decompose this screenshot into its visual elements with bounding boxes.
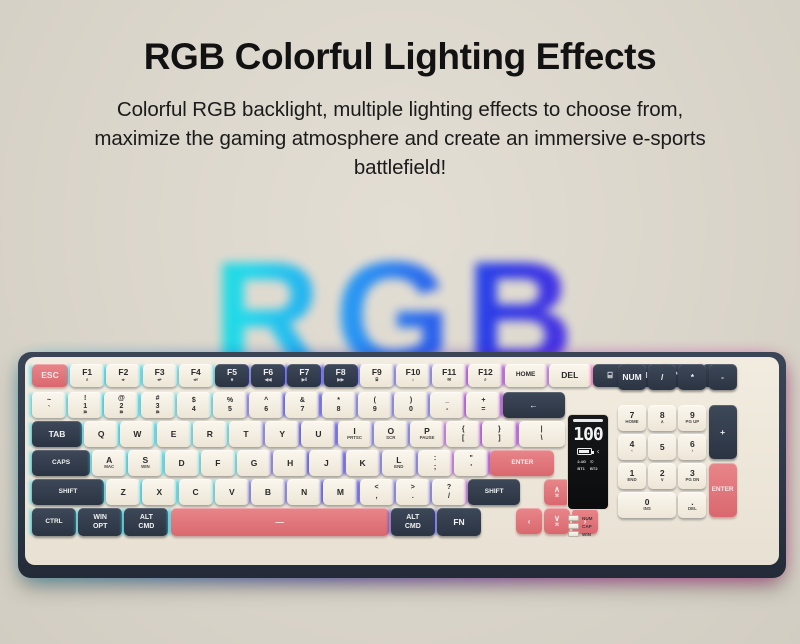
key-sublegend: 2	[119, 403, 123, 410]
keycap-layer: ESCF1⌕F2◂-F3◂+F4◂×F5■F6◀◀F7▶‖F8▶▶F9⌸F10⌂…	[18, 352, 786, 578]
key-p[interactable]: PPAUSE	[410, 421, 444, 447]
key-numpad-[interactable]: +	[709, 405, 737, 459]
key-legend: ~	[47, 397, 51, 404]
key-f6[interactable]: F6◀◀	[251, 364, 285, 387]
key-legend: SHIFT	[59, 489, 78, 496]
key-legend: 9	[690, 411, 695, 420]
key-j[interactable]: J	[309, 450, 343, 476]
key-legend: +	[720, 428, 725, 437]
key-[interactable]: @2⛿	[104, 392, 138, 418]
key-legend: /	[661, 373, 663, 382]
key-w[interactable]: W	[120, 421, 154, 447]
key-sublegend: ⛿	[120, 411, 123, 416]
key-legend: I	[353, 427, 355, 436]
key-sublegend: ⌕	[484, 378, 486, 383]
key-legend: >	[411, 484, 415, 491]
key-numpad-2[interactable]: 2∨	[648, 463, 676, 489]
led-label-num: NUM	[582, 516, 592, 521]
key-legend: :	[434, 455, 436, 462]
key-legend: X	[157, 488, 163, 497]
key-sublegend: ◂+	[157, 378, 162, 383]
led-label-win: WIN	[582, 532, 591, 537]
key-numpad-[interactable]: *	[678, 364, 706, 390]
key-legend: V	[229, 488, 235, 497]
key-v[interactable]: V	[215, 479, 249, 505]
key-sublegend: WIN	[141, 465, 150, 470]
key-[interactable]: &7	[285, 392, 319, 418]
key-y[interactable]: Y	[265, 421, 299, 447]
key-f12[interactable]: F12⌕	[468, 364, 502, 387]
key-alt[interactable]: ALTCMD	[124, 508, 168, 536]
key-legend: _	[445, 397, 449, 404]
key-o[interactable]: OSCR	[374, 421, 408, 447]
key-[interactable]: $4	[177, 392, 211, 418]
key-k[interactable]: K	[346, 450, 380, 476]
key-sublegend: ∨	[661, 478, 664, 483]
keyboard-product-image: ESCF1⌕F2◂-F3◂+F4◂×F5■F6◀◀F7▶‖F8▶▶F9⌸F10⌂…	[18, 352, 786, 592]
key-f7[interactable]: F7▶‖	[287, 364, 321, 387]
key-[interactable]: +=	[466, 392, 500, 418]
caps-lock-led-icon	[568, 523, 579, 529]
key-legend: TAB	[49, 430, 66, 439]
key-sublegend: 5	[228, 406, 232, 413]
key-a[interactable]: AMAC	[92, 450, 126, 476]
key-sublegend: ▶‖	[302, 378, 308, 383]
key-[interactable]: )0	[394, 392, 428, 418]
key-sublegend: ✉	[447, 378, 451, 383]
key-sublegend: HOME	[625, 420, 638, 425]
key-b[interactable]: B	[251, 479, 285, 505]
key-sublegend: END	[394, 465, 403, 470]
key-legend: -	[721, 373, 724, 382]
key-[interactable]: ?/	[432, 479, 466, 505]
key-sublegend: 9	[373, 406, 377, 413]
key-legend: F	[215, 459, 220, 468]
key-legend: )	[410, 397, 412, 404]
key-z[interactable]: Z	[106, 479, 140, 505]
key-sublegend: ⌘	[555, 523, 559, 528]
key-numpad-9[interactable]: 9PG UP	[678, 405, 706, 431]
key-sublegend: ⛿	[84, 411, 87, 416]
key-legend: %	[227, 397, 233, 404]
key-x[interactable]: X	[142, 479, 176, 505]
key-legend: 6	[690, 440, 695, 449]
key-numpad-1[interactable]: 1END	[618, 463, 646, 489]
key-legend: F5	[227, 368, 237, 377]
key-f8[interactable]: F8▶▶	[324, 364, 358, 387]
key-[interactable]: ~`	[32, 392, 66, 418]
key-f2[interactable]: F2◂-	[106, 364, 140, 387]
key-numpad-[interactable]: .DEL	[678, 492, 706, 518]
display-mode-labels: 2.4G ☉ BT1 BT2	[577, 459, 598, 471]
key-numpad-num[interactable]: NUM	[618, 364, 646, 390]
key-legend: B	[265, 488, 271, 497]
key-legend: ENTER	[511, 460, 533, 467]
key-sublegend: ;	[434, 464, 436, 471]
key-legend: E	[171, 430, 177, 439]
key-numpad-0[interactable]: 0INS	[618, 492, 676, 518]
key-legend: K	[360, 459, 366, 468]
key-sublegend: 7	[300, 406, 304, 413]
key-f3[interactable]: F3◂+	[143, 364, 177, 387]
key-legend: F3	[155, 368, 165, 377]
key-numpad-[interactable]: /	[648, 364, 676, 390]
key-legend: ENTER	[712, 487, 734, 494]
key-legend: F7	[299, 368, 309, 377]
key-legend: W	[133, 430, 141, 439]
key-sublegend: ◂-	[122, 378, 126, 383]
key-legend: F11	[442, 368, 456, 377]
key-legend: O	[387, 427, 394, 436]
key-home[interactable]: HOME	[505, 364, 547, 387]
key-sublegend: ■	[231, 378, 234, 383]
key-shift[interactable]: SHIFT	[468, 479, 520, 505]
key-legend: 5	[660, 443, 665, 452]
key-legend: C	[193, 488, 199, 497]
key-legend: L	[396, 456, 401, 465]
key-[interactable]: _-	[430, 392, 464, 418]
key-m[interactable]: M	[323, 479, 357, 505]
indicator-led-group: NUM CAP WIN	[568, 515, 614, 539]
led-label-cap: CAP	[582, 524, 592, 529]
key-i[interactable]: IPRTSC	[338, 421, 372, 447]
key-caps[interactable]: CAPS	[32, 450, 90, 476]
key-legend: Q	[98, 430, 105, 439]
key-legend: 1	[630, 469, 635, 478]
key-[interactable]: :;	[418, 450, 452, 476]
key-sublegend: OPT	[93, 523, 107, 530]
key-legend: @	[118, 395, 125, 402]
key-legend: {	[462, 426, 465, 433]
key-legend: +	[481, 397, 485, 404]
key-legend: A	[106, 456, 112, 465]
key-[interactable]: %5	[213, 392, 247, 418]
key-legend: ∨	[554, 514, 560, 523]
key-legend: ∧	[554, 485, 560, 494]
display-label-bt1: BT1	[577, 466, 586, 471]
key-legend: H	[287, 459, 293, 468]
key-numpad-enter[interactable]: ENTER	[709, 463, 737, 517]
key-legend: 2	[660, 469, 665, 478]
key-numpad-5[interactable]: 5	[648, 434, 676, 460]
key-sublegend: ◂×	[193, 378, 198, 383]
key-legend: N	[301, 488, 307, 497]
key-legend: $	[192, 397, 196, 404]
key-q[interactable]: Q	[84, 421, 118, 447]
key-sublegend: 6	[264, 406, 268, 413]
key-legend: 4	[630, 440, 635, 449]
key-[interactable]: *8	[322, 392, 356, 418]
key-[interactable]: —	[171, 508, 389, 536]
display-battery-row: ☇	[577, 448, 599, 455]
key-c[interactable]: C	[179, 479, 213, 505]
key-[interactable]: "'	[454, 450, 488, 476]
key-legend: 7	[630, 411, 635, 420]
key-legend: 8	[660, 411, 665, 420]
key-legend: *	[691, 373, 694, 382]
key-legend: F10	[406, 368, 421, 377]
key-[interactable]: {[	[446, 421, 480, 447]
key-legend: F6	[263, 368, 273, 377]
key-sublegend: CMD	[405, 523, 421, 530]
key-legend: F12	[478, 368, 493, 377]
key-shift[interactable]: SHIFT	[32, 479, 104, 505]
key-numpad-6[interactable]: 6›	[678, 434, 706, 460]
key-legend: ‹	[528, 517, 531, 526]
key-sublegend: PRTSC	[347, 436, 362, 441]
key-sublegend: ⌕	[86, 378, 88, 383]
key-legend: "	[470, 455, 473, 462]
key-f5[interactable]: F5■	[215, 364, 249, 387]
key-legend: NUM	[622, 373, 641, 382]
key-f10[interactable]: F10⌂	[396, 364, 430, 387]
key-ctrl[interactable]: CTRL	[32, 508, 76, 536]
key-sublegend: /	[448, 493, 450, 500]
key-sublegend: PG DN	[685, 478, 699, 483]
key-l[interactable]: LEND	[382, 450, 416, 476]
key-legend: DEL	[561, 371, 578, 380]
key-f4[interactable]: F4◂×	[179, 364, 213, 387]
key-numpad-3[interactable]: 3PG DN	[678, 463, 706, 489]
key-legend: T	[243, 430, 248, 439]
key-f9[interactable]: F9⌸	[360, 364, 394, 387]
key-legend: F2	[118, 368, 128, 377]
key-u[interactable]: U	[301, 421, 335, 447]
key-numpad-8[interactable]: 8∧	[648, 405, 676, 431]
key-[interactable]: !1⛿	[68, 392, 102, 418]
key-legend: &	[300, 397, 305, 404]
key-legend: U	[315, 430, 321, 439]
key-legend: G	[251, 459, 258, 468]
key-sublegend: SCR	[386, 436, 395, 441]
key-f1[interactable]: F1⌕	[70, 364, 104, 387]
key-arrow-2[interactable]: ∨⌘	[544, 508, 570, 534]
key-sublegend: 4	[192, 406, 196, 413]
key-legend: —	[275, 518, 284, 527]
key-legend: HOME	[516, 372, 536, 379]
led-cap: CAP	[568, 523, 614, 529]
key-win[interactable]: WINOPT	[78, 508, 122, 536]
key-sublegend: ›	[692, 449, 693, 454]
key-h[interactable]: H	[273, 450, 307, 476]
key-sublegend: \	[541, 435, 543, 442]
key-legend: CTRL	[45, 519, 62, 526]
key-sublegend: ,	[376, 493, 378, 500]
key-numpad-4[interactable]: 4‹	[618, 434, 646, 460]
key-legend: D	[179, 459, 185, 468]
key-legend: S	[143, 456, 149, 465]
key-sublegend: `	[48, 406, 50, 413]
num-lock-led-icon	[568, 515, 579, 521]
key-[interactable]: #3⛿	[141, 392, 175, 418]
promo-subtext: Colorful RGB backlight, multiple lightin…	[80, 95, 720, 182]
key-legend: R	[207, 430, 213, 439]
key-t[interactable]: T	[229, 421, 263, 447]
key-legend: <	[375, 484, 379, 491]
key-legend: F8	[336, 368, 346, 377]
key-[interactable]: }]	[482, 421, 516, 447]
key-esc[interactable]: ESC	[32, 364, 68, 387]
key-sublegend: ⌸	[375, 378, 378, 383]
key-legend: ←	[529, 401, 538, 410]
key-[interactable]: |\	[519, 421, 565, 447]
key-sublegend: ▶▶	[337, 378, 344, 383]
key-legend: ESC	[41, 371, 58, 380]
key-legend: F4	[191, 368, 201, 377]
key-sublegend: DEL	[688, 507, 697, 512]
key-legend: Z	[121, 488, 126, 497]
key-sublegend: -	[446, 406, 448, 413]
key-f[interactable]: F	[201, 450, 235, 476]
key-legend: !	[84, 395, 86, 402]
key-sublegend: ⌘	[555, 494, 559, 499]
key-sublegend: ‹	[631, 449, 632, 454]
key-sublegend: ∧	[661, 420, 664, 425]
key-fn[interactable]: FN	[437, 508, 481, 536]
key-legend: ⌸	[607, 371, 612, 380]
key-[interactable]: >.	[396, 479, 430, 505]
key-legend: J	[324, 459, 329, 468]
key-[interactable]: ^6	[249, 392, 283, 418]
key-legend: WIN	[93, 514, 107, 521]
key-sublegend: =	[481, 406, 485, 413]
key-sublegend: CMD	[138, 523, 154, 530]
key-legend: (	[374, 397, 376, 404]
key-legend: ALT	[140, 514, 153, 521]
key-sublegend: [	[462, 435, 464, 442]
key-legend: M	[337, 488, 344, 497]
key-legend: FN	[453, 518, 464, 527]
key-legend: *	[337, 397, 340, 404]
key-s[interactable]: SWIN	[128, 450, 162, 476]
key-sublegend: 1	[83, 403, 87, 410]
key-sublegend: 8	[337, 406, 341, 413]
key-sublegend: ⌂	[412, 378, 415, 383]
key-sublegend: MAC	[104, 465, 114, 470]
key-sublegend: '	[470, 464, 472, 471]
key-arrow-1[interactable]: ‹	[516, 508, 542, 534]
key-d[interactable]: D	[165, 450, 199, 476]
battery-percent-value: 100	[573, 424, 603, 445]
key-sublegend: 0	[409, 406, 413, 413]
key-alt[interactable]: ALTCMD	[391, 508, 435, 536]
win-lock-led-icon	[568, 531, 579, 537]
key-legend: 3	[690, 469, 695, 478]
key-legend: 0	[645, 498, 650, 507]
key-legend: SHIFT	[485, 489, 504, 496]
key-sublegend: PAUSE	[420, 436, 435, 441]
key-legend: F1	[82, 368, 92, 377]
key-f11[interactable]: F11✉	[432, 364, 466, 387]
display-label-wifi-icon: ☉	[590, 459, 599, 464]
key-legend: #	[156, 395, 160, 402]
bluetooth-icon: ☇	[597, 449, 599, 454]
key-legend: P	[424, 427, 430, 436]
key-enter[interactable]: ENTER	[490, 450, 554, 476]
key-sublegend: ◀◀	[265, 378, 272, 383]
key-tab[interactable]: TAB	[32, 421, 82, 447]
key-legend: ?	[447, 484, 451, 491]
key-sublegend: PG UP	[686, 420, 700, 425]
key-g[interactable]: G	[237, 450, 271, 476]
led-num: NUM	[568, 515, 614, 521]
key-del[interactable]: DEL	[549, 364, 591, 387]
key-sublegend: INS	[643, 507, 650, 512]
key-numpad-[interactable]: -	[709, 364, 737, 390]
key-numpad-7[interactable]: 7HOME	[618, 405, 646, 431]
key-r[interactable]: R	[193, 421, 227, 447]
key-legend: F9	[372, 368, 382, 377]
key-[interactable]: ←	[503, 392, 565, 418]
key-legend: ^	[264, 397, 268, 404]
key-legend: ALT	[406, 514, 419, 521]
key-sublegend: 3	[156, 403, 160, 410]
display-top-bar	[573, 419, 603, 422]
led-win: WIN	[568, 531, 614, 537]
display-label-bt2: BT2	[590, 466, 599, 471]
key-sublegend: ]	[498, 435, 500, 442]
key-[interactable]: (9	[358, 392, 392, 418]
key-legend: }	[498, 426, 501, 433]
key-sublegend: ⛿	[156, 411, 159, 416]
key-legend: CAPS	[52, 460, 70, 467]
key-legend: Y	[279, 430, 285, 439]
oled-display: 100 ☇ 2.4G ☉ BT1 BT2	[567, 414, 609, 510]
key-legend: .	[691, 498, 693, 507]
display-label-24g: 2.4G	[577, 459, 586, 464]
battery-icon	[577, 448, 592, 455]
key-[interactable]: <,	[360, 479, 394, 505]
key-sublegend: .	[412, 493, 414, 500]
page-title: RGB Colorful Lighting Effects	[0, 38, 800, 77]
key-n[interactable]: N	[287, 479, 321, 505]
key-e[interactable]: E	[157, 421, 191, 447]
promo-copy-block: RGB Colorful Lighting Effects Colorful R…	[0, 38, 800, 182]
key-sublegend: END	[627, 478, 636, 483]
key-legend: |	[541, 426, 543, 433]
